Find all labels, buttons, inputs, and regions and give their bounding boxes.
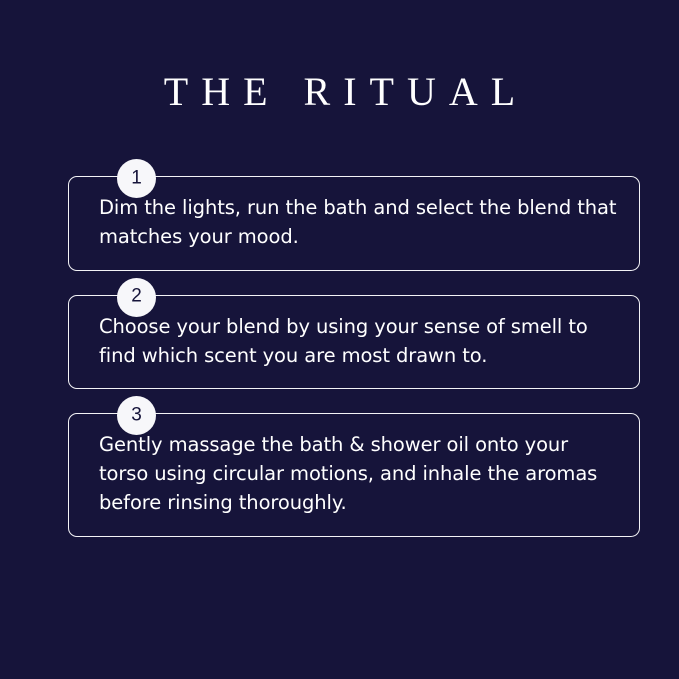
step-number-badge-2: 2 xyxy=(117,278,156,317)
step-card-2: 2 Choose your blend by using your sense … xyxy=(68,295,640,390)
steps-list: 1 Dim the lights, run the bath and selec… xyxy=(0,176,679,537)
step-number-label: 3 xyxy=(131,405,142,424)
step-text-3: Gently massage the bath & shower oil ont… xyxy=(99,431,619,518)
ritual-poster: THE RITUAL 1 Dim the lights, run the bat… xyxy=(0,0,679,679)
step-text-1: Dim the lights, run the bath and select … xyxy=(99,194,619,252)
list-item: 3 Gently massage the bath & shower oil o… xyxy=(0,413,679,537)
step-card-3: 3 Gently massage the bath & shower oil o… xyxy=(68,413,640,537)
step-text-2: Choose your blend by using your sense of… xyxy=(99,313,619,371)
step-number-badge-3: 3 xyxy=(117,396,156,435)
step-number-label: 1 xyxy=(131,168,142,187)
step-number-label: 2 xyxy=(131,287,142,306)
list-item: 1 Dim the lights, run the bath and selec… xyxy=(0,176,679,271)
step-number-badge-1: 1 xyxy=(117,159,156,198)
page-title: THE RITUAL xyxy=(0,72,679,112)
list-item: 2 Choose your blend by using your sense … xyxy=(0,295,679,390)
step-card-1: 1 Dim the lights, run the bath and selec… xyxy=(68,176,640,271)
